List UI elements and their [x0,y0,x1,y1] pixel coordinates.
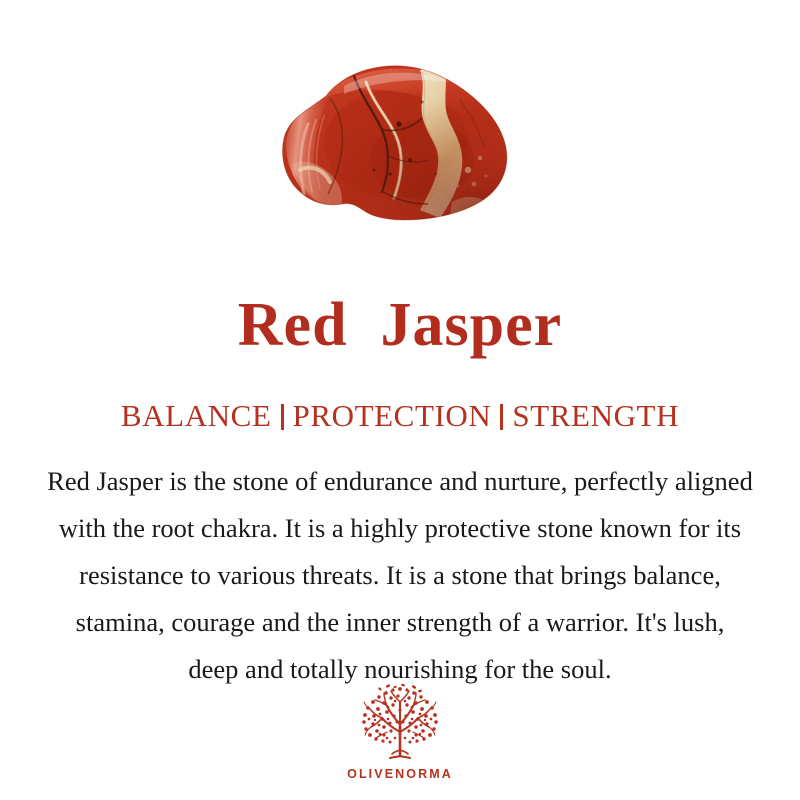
product-info-card: Red Jasper BALANCEPROTECTIONSTRENGTH Red… [0,0,800,800]
keyword-protection: PROTECTION [293,398,492,433]
description-line: resistance to various threats. It is a s… [8,552,792,599]
tree-of-life-icon [357,684,443,764]
brand-logo: OLIVENORMA [0,684,800,781]
product-title: Red Jasper [0,292,800,358]
product-keywords: BALANCEPROTECTIONSTRENGTH [0,398,800,434]
product-description: Red Jasper is the stone of endurance and… [8,458,792,693]
brand-name: OLIVENORMA [347,767,453,781]
description-line: stamina, courage and the inner strength … [8,599,792,646]
red-jasper-tumbled-stone-icon [270,52,530,242]
keyword-separator-2 [500,404,503,430]
description-line: with the root chakra. It is a highly pro… [8,505,792,552]
description-line: Red Jasper is the stone of endurance and… [8,458,792,505]
keyword-strength: STRENGTH [512,398,679,433]
keyword-separator-1 [281,404,284,430]
keyword-balance: BALANCE [121,398,272,433]
red-jasper-stone-image [0,52,800,242]
